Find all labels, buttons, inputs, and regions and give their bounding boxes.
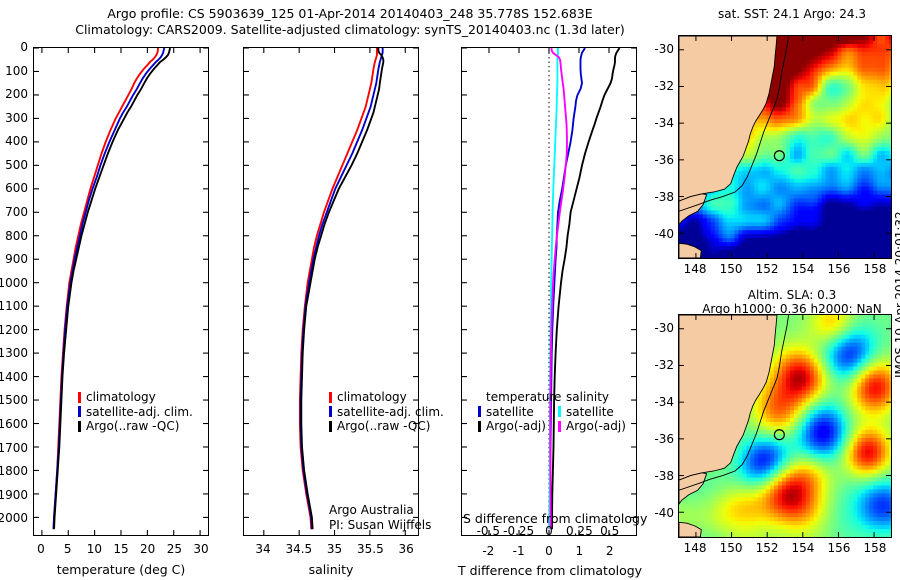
difference-profile-plot — [461, 47, 637, 536]
difference-profile-curves — [462, 48, 636, 535]
tick-marks — [244, 48, 418, 535]
temperature-difference-tick-label: 2 — [590, 545, 630, 557]
depth-tick-label: 900 — [0, 253, 28, 265]
legend-color-swatch — [329, 392, 332, 403]
depth-tick-label: 1700 — [0, 442, 28, 454]
depth-tick-label: 1600 — [0, 418, 28, 430]
profile-curve — [550, 48, 585, 529]
salinity-legend-item: satellite-adj. clim. — [329, 405, 444, 420]
page-title: Argo profile: CS 5903639_125 01-Apr-2014… — [40, 6, 660, 38]
sla-map-lon-label: 154 — [786, 542, 820, 554]
salinity-legend: climatologysatellite-adj. clim.Argo(..ra… — [329, 390, 444, 434]
sst-map-title: sat. SST: 24.1 Argo: 24.3 — [672, 7, 900, 21]
sst-map[interactable] — [678, 35, 892, 259]
sla-map-lon-label: 150 — [714, 542, 748, 554]
legend-color-swatch — [329, 421, 332, 432]
title-line-1: Argo profile: CS 5903639_125 01-Apr-2014… — [40, 6, 660, 22]
difference-legend-temperature: temperaturesatelliteArgo(-adj) — [478, 390, 561, 434]
sla-map-title: Altim. SLA: 0.3 Argo h1000: 0.36 h2000: … — [672, 288, 900, 316]
salinity-profile-plot — [243, 47, 419, 536]
legend-color-swatch — [78, 392, 81, 403]
salinity-tick-label: 35.5 — [350, 543, 390, 555]
difference-legend-salinity: salinitysatelliteArgo(-adj) — [558, 390, 626, 434]
sla-map-lon-label: 156 — [822, 542, 856, 554]
temperature-axis-title: temperature (deg C) — [33, 562, 209, 577]
difference-salinity-legend-item: satellite — [558, 405, 626, 420]
sst-map-lat-label: -32 — [640, 80, 674, 92]
salinity-tick-label: 35 — [315, 543, 355, 555]
difference-temperature-legend-title: temperature — [478, 390, 561, 405]
depth-tick-label: 1400 — [0, 371, 28, 383]
timestamp: IMOS 10-Apr-2014 20:01:32 — [880, 378, 896, 558]
depth-tick-label: 600 — [0, 182, 28, 194]
credit-line-1: Argo Australia — [329, 503, 431, 518]
sla-map[interactable] — [678, 314, 892, 538]
sla-map-lat-label: -34 — [640, 396, 674, 408]
sst-map-lon-label: 154 — [786, 263, 820, 275]
depth-tick-label: 0 — [0, 41, 28, 53]
legend-color-swatch — [478, 421, 481, 432]
legend-label: Argo(-adj) — [486, 419, 546, 434]
depth-tick-label: 1900 — [0, 489, 28, 501]
tick-marks — [34, 48, 208, 535]
difference-salinity-legend-item: Argo(-adj) — [558, 419, 626, 434]
salinity-axis-title: salinity — [243, 562, 419, 577]
salinity-difference-tick-label: 0.5 — [590, 525, 630, 537]
legend-label: climatology — [337, 390, 407, 405]
legend-label: Argo(..raw -QC) — [86, 419, 179, 434]
sst-map-lon-label: 158 — [858, 263, 892, 275]
salinity-legend-item: climatology — [329, 390, 444, 405]
legend-label: satellite — [566, 405, 614, 420]
temperature-legend: climatologysatellite-adj. clim.Argo(..ra… — [78, 390, 193, 434]
legend-label: satellite-adj. clim. — [337, 405, 444, 420]
sla-map-lon-label: 152 — [750, 542, 784, 554]
legend-label: satellite — [486, 405, 534, 420]
sla-map-lat-label: -32 — [640, 359, 674, 371]
sla-map-field — [679, 315, 891, 537]
depth-tick-label: 1100 — [0, 300, 28, 312]
difference-temperature-legend-item: satellite — [478, 405, 561, 420]
title-line-2: Climatology: CARS2009. Satellite-adjuste… — [40, 22, 660, 38]
depth-tick-label: 1500 — [0, 394, 28, 406]
depth-tick-label: 400 — [0, 135, 28, 147]
sla-title-line-1: Altim. SLA: 0.3 — [672, 288, 900, 302]
depth-tick-label: 1800 — [0, 465, 28, 477]
profile-curve — [552, 48, 620, 529]
temperature-difference-axis-title: T difference from climatology — [455, 563, 648, 578]
depth-tick-label: 200 — [0, 88, 28, 100]
difference-salinity-legend-title: salinity — [558, 390, 626, 405]
sst-map-field — [679, 36, 891, 258]
depth-tick-label: 300 — [0, 112, 28, 124]
profile-curve — [54, 48, 170, 529]
temperature-profile-curves — [34, 48, 208, 535]
sla-map-lat-label: -36 — [640, 433, 674, 445]
temperature-tick-label: 30 — [181, 543, 221, 555]
difference-temperature-legend-item: Argo(-adj) — [478, 419, 561, 434]
sst-map-lat-label: -30 — [640, 43, 674, 55]
salinity-tick-label: 34.5 — [279, 543, 319, 555]
salinity-tick-label: 34 — [243, 543, 283, 555]
sst-map-lat-label: -40 — [640, 228, 674, 240]
temperature-profile-plot — [33, 47, 209, 536]
legend-color-swatch — [478, 406, 481, 417]
legend-color-swatch — [329, 406, 332, 417]
sst-map-lon-label: 156 — [822, 263, 856, 275]
temperature-legend-item: Argo(..raw -QC) — [78, 419, 193, 434]
depth-tick-label: 1000 — [0, 277, 28, 289]
legend-color-swatch — [558, 421, 561, 432]
legend-color-swatch — [78, 406, 81, 417]
argo-credit: Argo Australia PI: Susan Wijffels — [329, 503, 431, 533]
legend-label: satellite-adj. clim. — [86, 405, 193, 420]
sst-map-lat-label: -36 — [640, 154, 674, 166]
depth-tick-label: 700 — [0, 206, 28, 218]
temperature-legend-item: satellite-adj. clim. — [78, 405, 193, 420]
salinity-legend-item: Argo(..raw -QC) — [329, 419, 444, 434]
depth-tick-label: 2000 — [0, 512, 28, 524]
sst-map-lon-label: 150 — [714, 263, 748, 275]
depth-tick-label: 1300 — [0, 347, 28, 359]
legend-label: climatology — [86, 390, 156, 405]
sst-map-lat-label: -38 — [640, 191, 674, 203]
legend-label: Argo(-adj) — [566, 419, 626, 434]
sla-map-lat-label: -38 — [640, 470, 674, 482]
sla-map-lat-label: -30 — [640, 322, 674, 334]
temperature-legend-item: climatology — [78, 390, 193, 405]
sst-map-lon-label: 148 — [678, 263, 712, 275]
salinity-tick-label: 36 — [386, 543, 426, 555]
depth-tick-label: 500 — [0, 159, 28, 171]
depth-tick-label: 100 — [0, 65, 28, 77]
depth-tick-label: 800 — [0, 230, 28, 242]
profile-curve — [301, 48, 383, 529]
timestamp-text: IMOS 10-Apr-2014 20:01:32 — [893, 211, 900, 378]
sla-map-lat-label: -40 — [640, 507, 674, 519]
sla-map-lon-label: 148 — [678, 542, 712, 554]
credit-line-2: PI: Susan Wijffels — [329, 518, 431, 533]
sst-map-lon-label: 152 — [750, 263, 784, 275]
depth-tick-label: 1200 — [0, 324, 28, 336]
sst-map-lat-label: -34 — [640, 117, 674, 129]
legend-color-swatch — [558, 406, 561, 417]
legend-label: Argo(..raw -QC) — [337, 419, 430, 434]
salinity-profile-curves — [244, 48, 418, 535]
legend-color-swatch — [78, 421, 81, 432]
